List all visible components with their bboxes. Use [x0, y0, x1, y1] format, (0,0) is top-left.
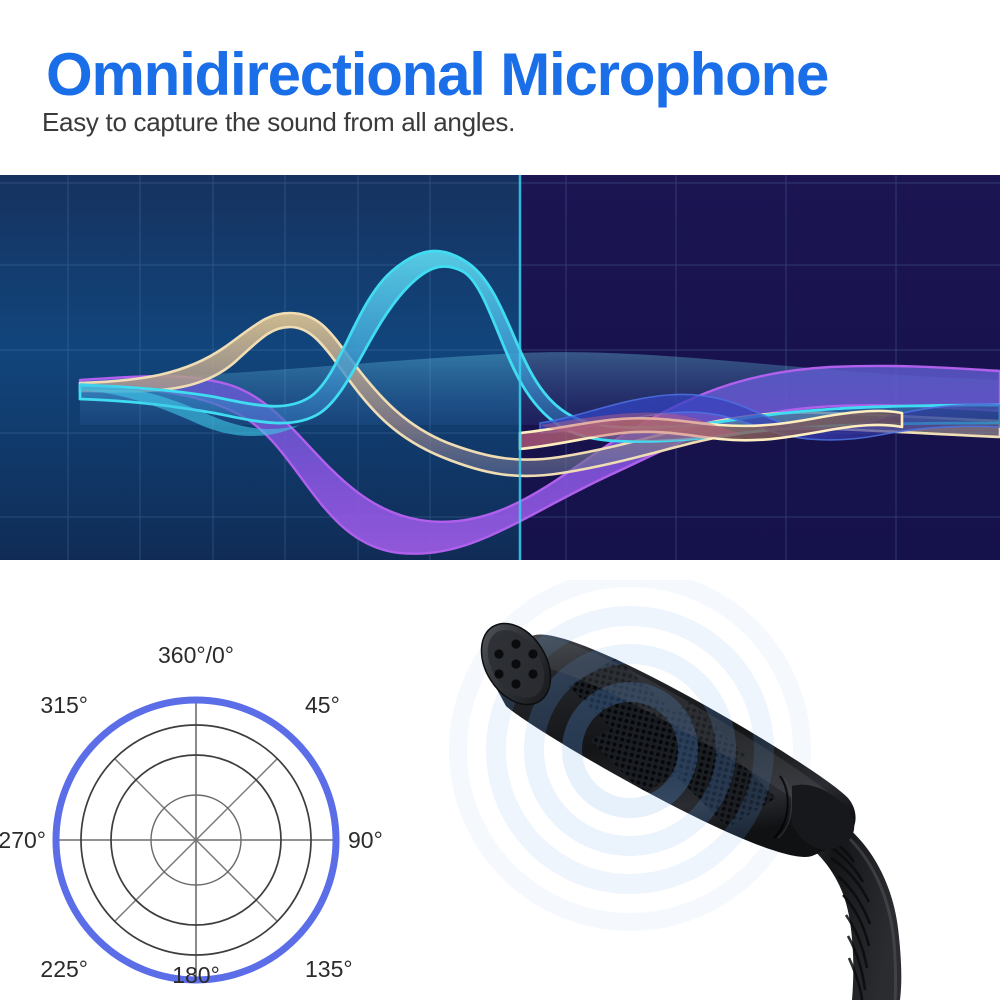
page-title: Omnidirectional Microphone — [46, 40, 828, 109]
polar-label-270: 270° — [0, 827, 46, 853]
polar-label-315: 315° — [40, 692, 88, 718]
polar-label-135: 135° — [305, 956, 353, 982]
product-infographic: Omnidirectional Microphone Easy to captu… — [0, 0, 1000, 1000]
audio-waveform-banner — [0, 175, 1000, 560]
polar-label-180: 180° — [172, 962, 220, 985]
header-section: Omnidirectional Microphone Easy to captu… — [0, 0, 1000, 175]
polar-label-0: 360°/0° — [158, 642, 234, 668]
microphone-product-image — [440, 580, 1000, 1000]
page-subtitle: Easy to capture the sound from all angle… — [42, 107, 515, 138]
polar-label-225: 225° — [40, 956, 88, 982]
polar-pattern-diagram: 360°/0° 45° 90° 135° 180° 225° 270° 315° — [0, 605, 420, 985]
lower-section: 360°/0° 45° 90° 135° 180° 225° 270° 315° — [0, 560, 1000, 1000]
polar-label-45: 45° — [305, 692, 340, 718]
polar-label-90: 90° — [348, 827, 383, 853]
